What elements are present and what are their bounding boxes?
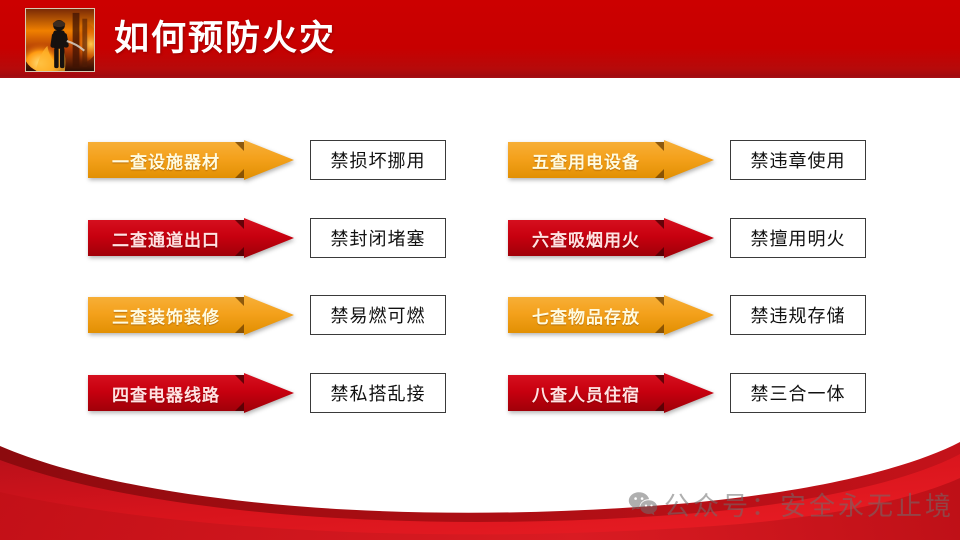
page-title: 如何预防火灾: [114, 9, 336, 69]
result-box-3[interactable]: 禁易燃可燃: [310, 295, 446, 335]
arrow-label: 八查人员住宿: [508, 373, 664, 413]
arrow-item-6[interactable]: 六查吸烟用火: [508, 218, 714, 258]
arrow-item-7[interactable]: 七查物品存放: [508, 295, 714, 335]
watermark-text: 公众号：安全永无止境: [664, 486, 954, 523]
arrow-label: 四查电器线路: [88, 373, 244, 413]
arrow-item-4[interactable]: 四查电器线路: [88, 373, 294, 413]
arrow-item-5[interactable]: 五查用电设备: [508, 140, 714, 180]
result-box-6[interactable]: 禁擅用明火: [730, 218, 866, 258]
slide-root: 如何预防火灾: [0, 0, 960, 540]
firefighter-thumbnail: [25, 8, 95, 72]
checklist-row: 三查装饰装修 禁易燃可燃: [88, 295, 508, 335]
result-box-7[interactable]: 禁违规存储: [730, 295, 866, 335]
checklist-row: 八查人员住宿 禁三合一体: [508, 373, 928, 413]
arrow-label: 一查设施器材: [88, 140, 244, 180]
watermark: 公众号：安全永无止境: [628, 486, 954, 522]
checklist-row: 二查通道出口 禁封闭堵塞: [88, 218, 508, 258]
content-area: 一查设施器材 禁损坏挪用: [0, 78, 960, 438]
arrow-item-1[interactable]: 一查设施器材: [88, 140, 294, 180]
checklist-row: 五查用电设备 禁违章使用: [508, 140, 928, 180]
arrow-label: 三查装饰装修: [88, 295, 244, 335]
wechat-icon: [628, 491, 658, 517]
arrow-label: 五查用电设备: [508, 140, 664, 180]
checklist-row: 四查电器线路 禁私搭乱接: [88, 373, 508, 413]
arrow-item-8[interactable]: 八查人员住宿: [508, 373, 714, 413]
arrow-item-2[interactable]: 二查通道出口: [88, 218, 294, 258]
result-box-4[interactable]: 禁私搭乱接: [310, 373, 446, 413]
fire-photo-icon: [26, 9, 94, 71]
arrow-item-3[interactable]: 三查装饰装修: [88, 295, 294, 335]
right-column: 五查用电设备 禁违章使用 六查吸烟用火 禁擅用明火: [508, 78, 928, 438]
arrow-label: 二查通道出口: [88, 218, 244, 258]
result-box-8[interactable]: 禁三合一体: [730, 373, 866, 413]
header-bar: 如何预防火灾: [0, 0, 960, 78]
checklist-row: 一查设施器材 禁损坏挪用: [88, 140, 508, 180]
result-box-1[interactable]: 禁损坏挪用: [310, 140, 446, 180]
arrow-label: 七查物品存放: [508, 295, 664, 335]
result-box-5[interactable]: 禁违章使用: [730, 140, 866, 180]
arrow-label: 六查吸烟用火: [508, 218, 664, 258]
left-column: 一查设施器材 禁损坏挪用: [88, 78, 508, 438]
checklist-row: 六查吸烟用火 禁擅用明火: [508, 218, 928, 258]
checklist-row: 七查物品存放 禁违规存储: [508, 295, 928, 335]
result-box-2[interactable]: 禁封闭堵塞: [310, 218, 446, 258]
